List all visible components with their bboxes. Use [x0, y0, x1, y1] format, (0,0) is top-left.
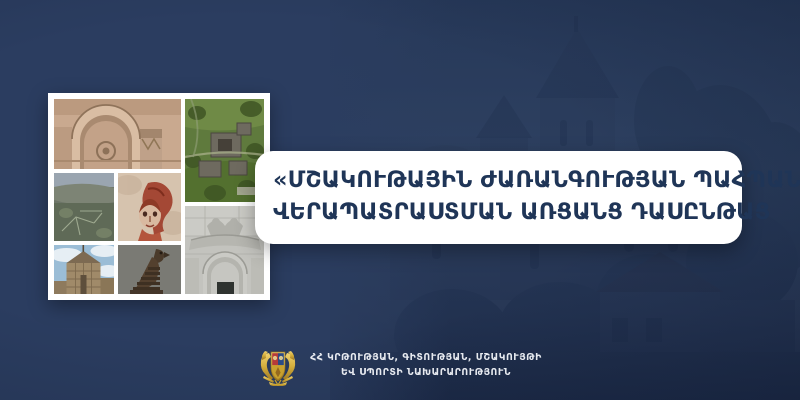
footer: ՀՀ ԿՐԹՈՒԹՅԱՆ, ԳԻՏՈՒԹՅԱՆ, ՄՇԱԿՈՒՅԹԻ ԵՎ ՍՊ…	[0, 344, 800, 386]
ministry-name-line-2: ԵՎ ՍՊՈՐՏԻ ՆԱԽԱՐԱՐՈՒԹՅՈՒՆ	[310, 365, 542, 380]
title-line-1: «ՄՇԱԿՈՒԹԱՅԻՆ ԺԱՌԱՆԳՈՒԹՅԱՆ ՊԱՀՊԱՆՈՒԹՅՈՒՆ»	[273, 165, 726, 197]
collage-photo-aerial-landscape	[54, 173, 114, 241]
title-line-2: ՎԵՐԱՊԱՏՐԱՍՏՄԱՆ ԱՌՑԱՆՑ ԴԱՍԸՆԹԱՑ	[273, 197, 726, 229]
ministry-name: ՀՀ ԿՐԹՈՒԹՅԱՆ, ԳԻՏՈՒԹՅԱՆ, ՄՇԱԿՈՒՅԹԻ ԵՎ ՍՊ…	[310, 350, 542, 381]
photo-collage	[48, 93, 270, 300]
announcement-banner: «ՄՇԱԿՈՒԹԱՅԻՆ ԺԱՌԱՆԳՈՒԹՅԱՆ ՊԱՀՊԱՆՈՒԹՅՈՒՆ»…	[0, 0, 800, 400]
title-card: «ՄՇԱԿՈՒԹԱՅԻՆ ԺԱՌԱՆԳՈՒԹՅԱՆ ՊԱՀՊԱՆՈՒԹՅՈՒՆ»…	[255, 151, 742, 244]
collage-photo-fresco	[118, 173, 181, 241]
collage-photo-aerial-monastery	[185, 99, 264, 202]
ministry-name-line-1: ՀՀ ԿՐԹՈՒԹՅԱՆ, ԳԻՏՈՒԹՅԱՆ, ՄՇԱԿՈՒՅԹԻ	[310, 350, 542, 365]
collage-photo-arch	[54, 99, 181, 169]
collage-photo-church-dome	[54, 245, 114, 294]
collage-photo-bird-figurine	[118, 245, 181, 294]
armenia-coat-of-arms-icon	[258, 344, 298, 386]
collage-photo-carved-portal	[185, 206, 264, 294]
